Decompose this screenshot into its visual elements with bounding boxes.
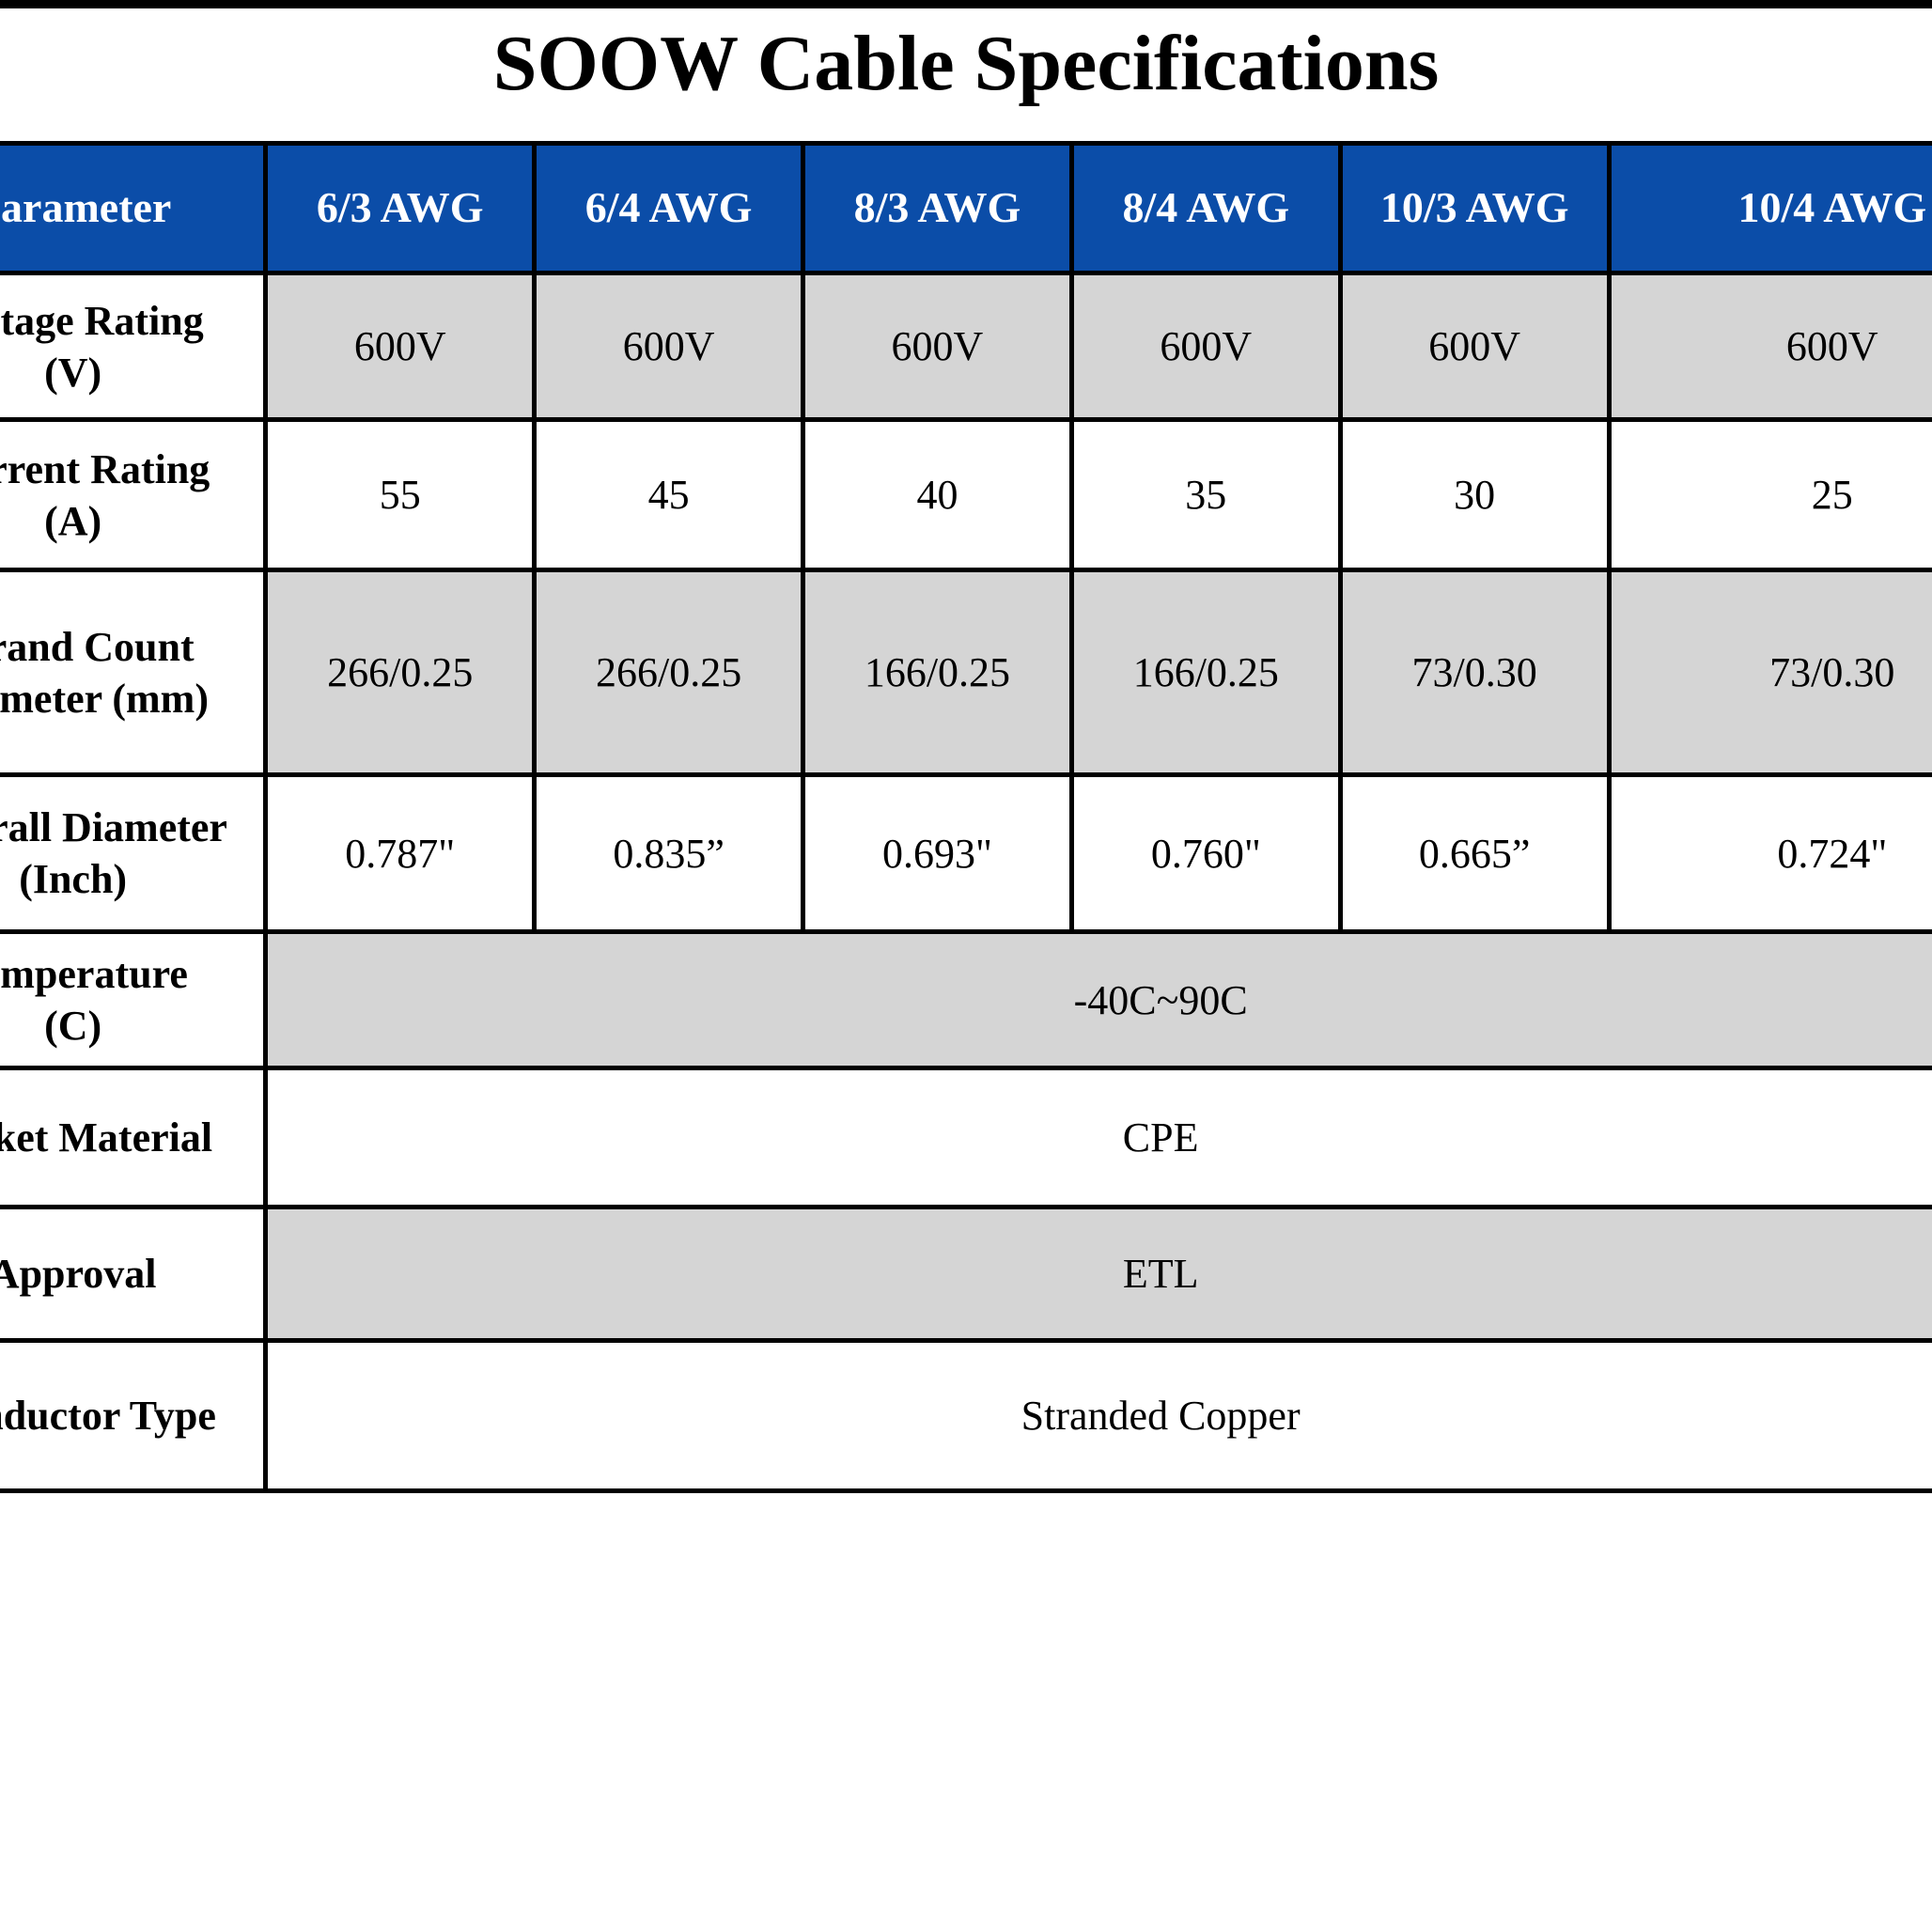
cell-overall-10-4: 0.724" — [1609, 775, 1932, 932]
row-label-jacket-material: Jacket Material — [0, 1068, 266, 1207]
cell-voltage-8-3: 600V — [803, 273, 1072, 420]
cell-voltage-10-3: 600V — [1340, 273, 1609, 420]
table-row: Overall Diameter (Inch) 0.787" 0.835” 0.… — [0, 775, 1932, 932]
table-row: Approval ETL — [0, 1207, 1932, 1341]
row-label-approval: Approval — [0, 1207, 266, 1341]
table-row: Jacket Material CPE — [0, 1068, 1932, 1207]
row-label-line2: (C) — [44, 1003, 101, 1049]
row-label-voltage-rating: Voltage Rating (V) — [0, 273, 266, 420]
page-title: SOOW Cable Specifications — [0, 19, 1932, 110]
row-label-line2: Diameter (mm) — [0, 676, 209, 722]
cell-voltage-6-3: 600V — [266, 273, 535, 420]
cell-current-8-3: 40 — [803, 420, 1072, 570]
cell-overall-8-3: 0.693" — [803, 775, 1072, 932]
cell-current-10-3: 30 — [1340, 420, 1609, 570]
cell-strand-10-3: 73/0.30 — [1340, 570, 1609, 775]
specification-sheet: SOOW Cable Specifications Parameter 6/3 … — [0, 0, 1932, 1932]
column-header-8-3-awg: 8/3 AWG — [803, 144, 1072, 273]
cell-voltage-6-4: 600V — [535, 273, 803, 420]
cell-current-10-4: 25 — [1609, 420, 1932, 570]
column-header-10-4-awg: 10/4 AWG — [1609, 144, 1932, 273]
cell-overall-6-3: 0.787" — [266, 775, 535, 932]
cell-current-6-4: 45 — [535, 420, 803, 570]
table-row: Strand Count Diameter (mm) 266/0.25 266/… — [0, 570, 1932, 775]
row-label-line1: Current Rating — [0, 446, 210, 492]
row-label-line1: Strand Count — [0, 624, 195, 670]
top-rule-divider — [0, 0, 1932, 8]
row-label-line1: Overall Diameter — [0, 804, 227, 850]
table-row: Temperature (C) -40C~90C — [0, 932, 1932, 1068]
cell-voltage-8-4: 600V — [1071, 273, 1340, 420]
table-row: Current Rating (A) 55 45 40 35 30 25 — [0, 420, 1932, 570]
cell-current-8-4: 35 — [1071, 420, 1340, 570]
cable-specifications-table: Parameter 6/3 AWG 6/4 AWG 8/3 AWG 8/4 AW… — [0, 141, 1932, 1493]
cell-strand-6-4: 266/0.25 — [535, 570, 803, 775]
table-row: Voltage Rating (V) 600V 600V 600V 600V 6… — [0, 273, 1932, 420]
row-label-line1: Voltage Rating — [0, 298, 204, 344]
row-label-strand-count-diameter: Strand Count Diameter (mm) — [0, 570, 266, 775]
cell-overall-6-4: 0.835” — [535, 775, 803, 932]
column-header-6-4-awg: 6/4 AWG — [535, 144, 803, 273]
table-row: Conductor Type Stranded Copper — [0, 1341, 1932, 1491]
table-body: Voltage Rating (V) 600V 600V 600V 600V 6… — [0, 273, 1932, 1491]
row-label-line2: (V) — [44, 350, 101, 396]
cell-strand-8-4: 166/0.25 — [1071, 570, 1340, 775]
row-label-line2: (A) — [44, 498, 101, 544]
column-header-6-3-awg: 6/3 AWG — [266, 144, 535, 273]
cell-strand-6-3: 266/0.25 — [266, 570, 535, 775]
cell-conductor-type-all: Stranded Copper — [266, 1341, 1932, 1491]
header-row: Parameter 6/3 AWG 6/4 AWG 8/3 AWG 8/4 AW… — [0, 144, 1932, 273]
cell-approval-all: ETL — [266, 1207, 1932, 1341]
column-header-10-3-awg: 10/3 AWG — [1340, 144, 1609, 273]
row-label-conductor-type: Conductor Type — [0, 1341, 266, 1491]
row-label-line2: (Inch) — [19, 856, 127, 902]
row-label-current-rating: Current Rating (A) — [0, 420, 266, 570]
column-header-8-4-awg: 8/4 AWG — [1071, 144, 1340, 273]
table-viewport: Parameter 6/3 AWG 6/4 AWG 8/3 AWG 8/4 AW… — [0, 141, 1932, 1932]
cell-strand-10-4: 73/0.30 — [1609, 570, 1932, 775]
cell-overall-10-3: 0.665” — [1340, 775, 1609, 932]
cell-jacket-material-all: CPE — [266, 1068, 1932, 1207]
cell-temperature-all: -40C~90C — [266, 932, 1932, 1068]
row-label-line1: Temperature — [0, 951, 188, 997]
cell-current-6-3: 55 — [266, 420, 535, 570]
column-header-parameter: Parameter — [0, 144, 266, 273]
row-label-temperature: Temperature (C) — [0, 932, 266, 1068]
cell-voltage-10-4: 600V — [1609, 273, 1932, 420]
cell-strand-8-3: 166/0.25 — [803, 570, 1072, 775]
cell-overall-8-4: 0.760" — [1071, 775, 1340, 932]
row-label-overall-diameter: Overall Diameter (Inch) — [0, 775, 266, 932]
table-head: Parameter 6/3 AWG 6/4 AWG 8/3 AWG 8/4 AW… — [0, 144, 1932, 273]
